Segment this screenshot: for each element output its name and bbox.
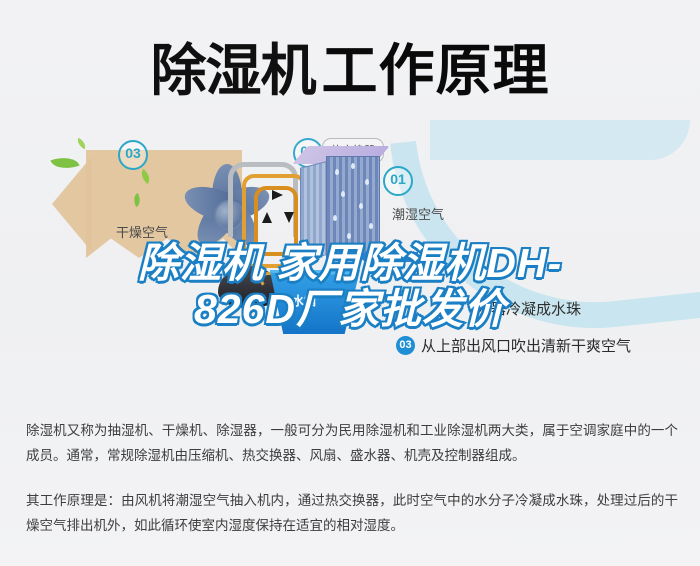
water-droplet-icon	[351, 163, 355, 169]
flow-arrow-up-icon	[262, 212, 272, 223]
page-title-part2: 工作原理	[322, 39, 550, 102]
dry-air-label: 干燥空气	[116, 222, 168, 241]
water-tank-label: 水箱	[292, 292, 316, 309]
water-droplet-icon	[341, 191, 345, 197]
description-paragraph-2: 其工作原理是：由风机将潮湿空气抽入机内，通过热交换器，此时空气中的水分子冷凝成水…	[26, 488, 678, 538]
humid-air-label: 潮湿空气	[392, 204, 444, 223]
note-badge-03: 03	[396, 336, 415, 355]
water-droplet-icon	[347, 233, 351, 239]
heat-exchanger-fins	[326, 156, 380, 258]
page-title: 除湿机工作原理	[0, 26, 700, 107]
description-text: 除湿机又称为抽湿机、干燥机、除湿器，一般可分为民用除湿机和工业除湿机两大类，属于…	[26, 418, 678, 544]
page-title-part1: 除湿机	[151, 39, 316, 102]
water-droplet-icon	[335, 169, 339, 175]
water-tank: 水箱	[264, 270, 360, 334]
infographic-page: 除湿机工作原理 干燥空气 03 02 01 热交换器 潮湿空气	[0, 0, 700, 566]
dehumidifier-diagram: 干燥空气 03 02 01 热交换器 潮湿空气	[0, 118, 700, 398]
note-text-03: 从上部出风口吹出清新干爽空气	[421, 335, 631, 356]
water-droplet-icon	[365, 179, 369, 185]
water-droplet-icon	[333, 215, 337, 221]
flow-arrow-down-icon	[284, 212, 294, 223]
flow-arrow-right-icon	[272, 190, 283, 200]
description-paragraph-1: 除湿机又称为抽湿机、干燥机、除湿器，一般可分为民用除湿机和工业除湿机两大类，属于…	[26, 418, 678, 468]
leaf-icon	[75, 138, 88, 150]
process-notes: 发器冷凝成水珠 03 从上部出风口吹出清新干爽空气	[414, 298, 694, 356]
water-droplet-icon	[359, 203, 363, 209]
note-partial-text: 发器冷凝成水珠	[476, 298, 694, 319]
note-item-03: 03 从上部出风口吹出清新干爽空气	[396, 335, 694, 356]
diagram-badge-03: 03	[118, 140, 148, 170]
heat-exchanger-block	[296, 156, 392, 260]
water-droplet-icon	[369, 223, 373, 229]
intake-arrow-icon	[372, 252, 418, 262]
